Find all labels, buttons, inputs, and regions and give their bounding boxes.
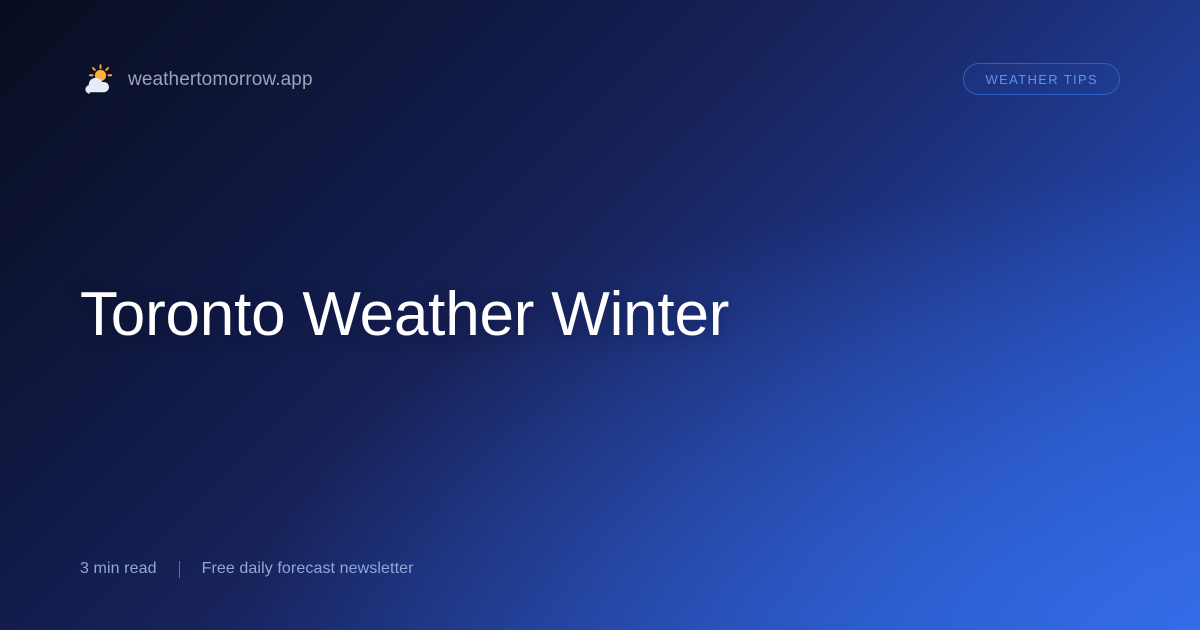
read-time: 3 min read [80, 560, 157, 578]
brand-logo[interactable]: weathertomorrow.app [80, 60, 313, 100]
newsletter-label: Free daily forecast newsletter [202, 560, 414, 578]
sun-behind-cloud-icon [80, 63, 114, 97]
footer-separator [179, 561, 180, 578]
brand-name: weathertomorrow.app [128, 63, 313, 97]
og-card: weathertomorrow.app WEATHER TIPS Toronto… [0, 0, 1200, 630]
card-footer: 3 min read Free daily forecast newslette… [80, 560, 414, 578]
weather-tips-badge[interactable]: WEATHER TIPS [963, 63, 1120, 95]
card-header: weathertomorrow.app WEATHER TIPS [0, 0, 1200, 160]
page-title: Toronto Weather Winter [80, 280, 729, 351]
